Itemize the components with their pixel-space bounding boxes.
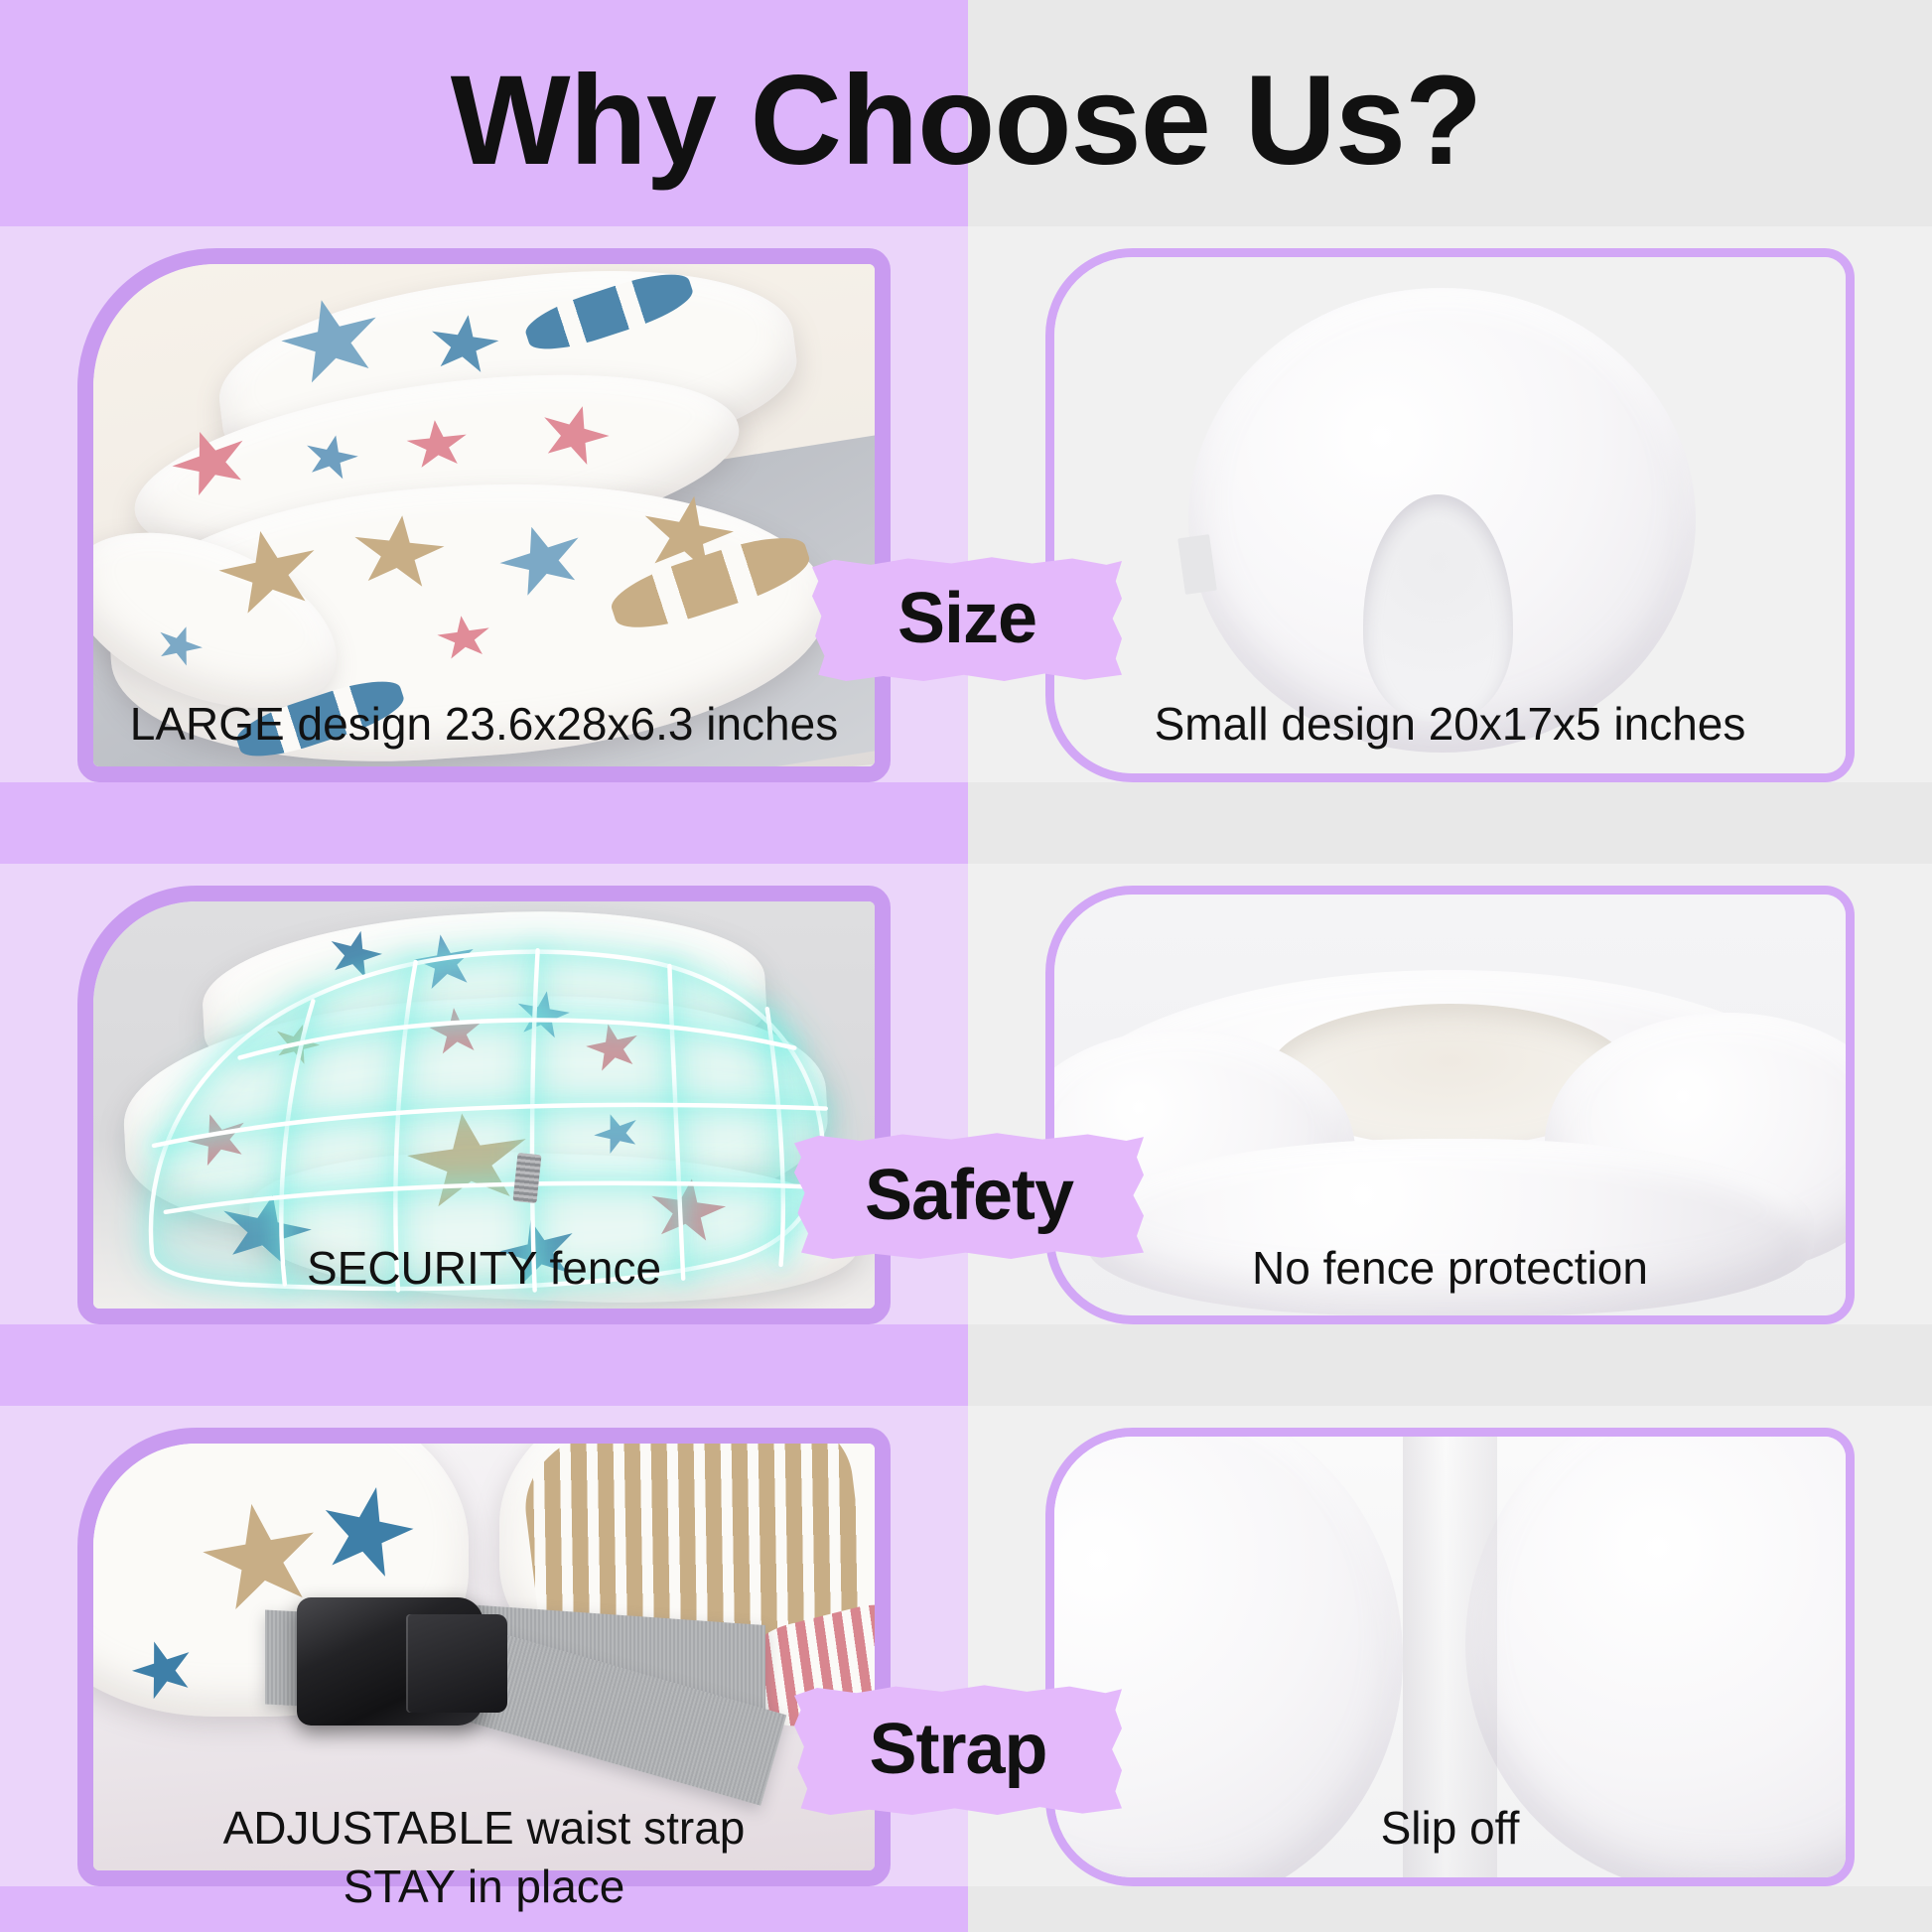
why-choose-us-infographic: Why Choose Us? bbox=[0, 0, 1932, 1932]
page-title: Why Choose Us? bbox=[0, 48, 1932, 194]
badge-size: Size bbox=[812, 556, 1122, 681]
caption-large-design: LARGE design 23.6x28x6.3 inches bbox=[0, 695, 968, 754]
badge-safety: Safety bbox=[794, 1132, 1144, 1259]
badge-strap: Strap bbox=[794, 1684, 1122, 1815]
row-separator-2-right bbox=[968, 1324, 1932, 1406]
scene-large-star-pillow bbox=[93, 264, 875, 766]
image-large-pillow bbox=[93, 264, 875, 766]
buckle-latch bbox=[406, 1614, 507, 1713]
row-separator-2 bbox=[0, 1324, 1932, 1406]
row-separator-2-left bbox=[0, 1324, 968, 1406]
caption-adjustable-strap: ADJUSTABLE waist strap STAY in place bbox=[0, 1799, 968, 1916]
row-separator-1 bbox=[0, 782, 1932, 864]
row-separator-1-right bbox=[968, 782, 1932, 864]
row-separator-3-right bbox=[968, 1886, 1932, 1932]
caption-small-design: Small design 20x17x5 inches bbox=[968, 695, 1932, 754]
row-separator-1-left bbox=[0, 782, 968, 864]
